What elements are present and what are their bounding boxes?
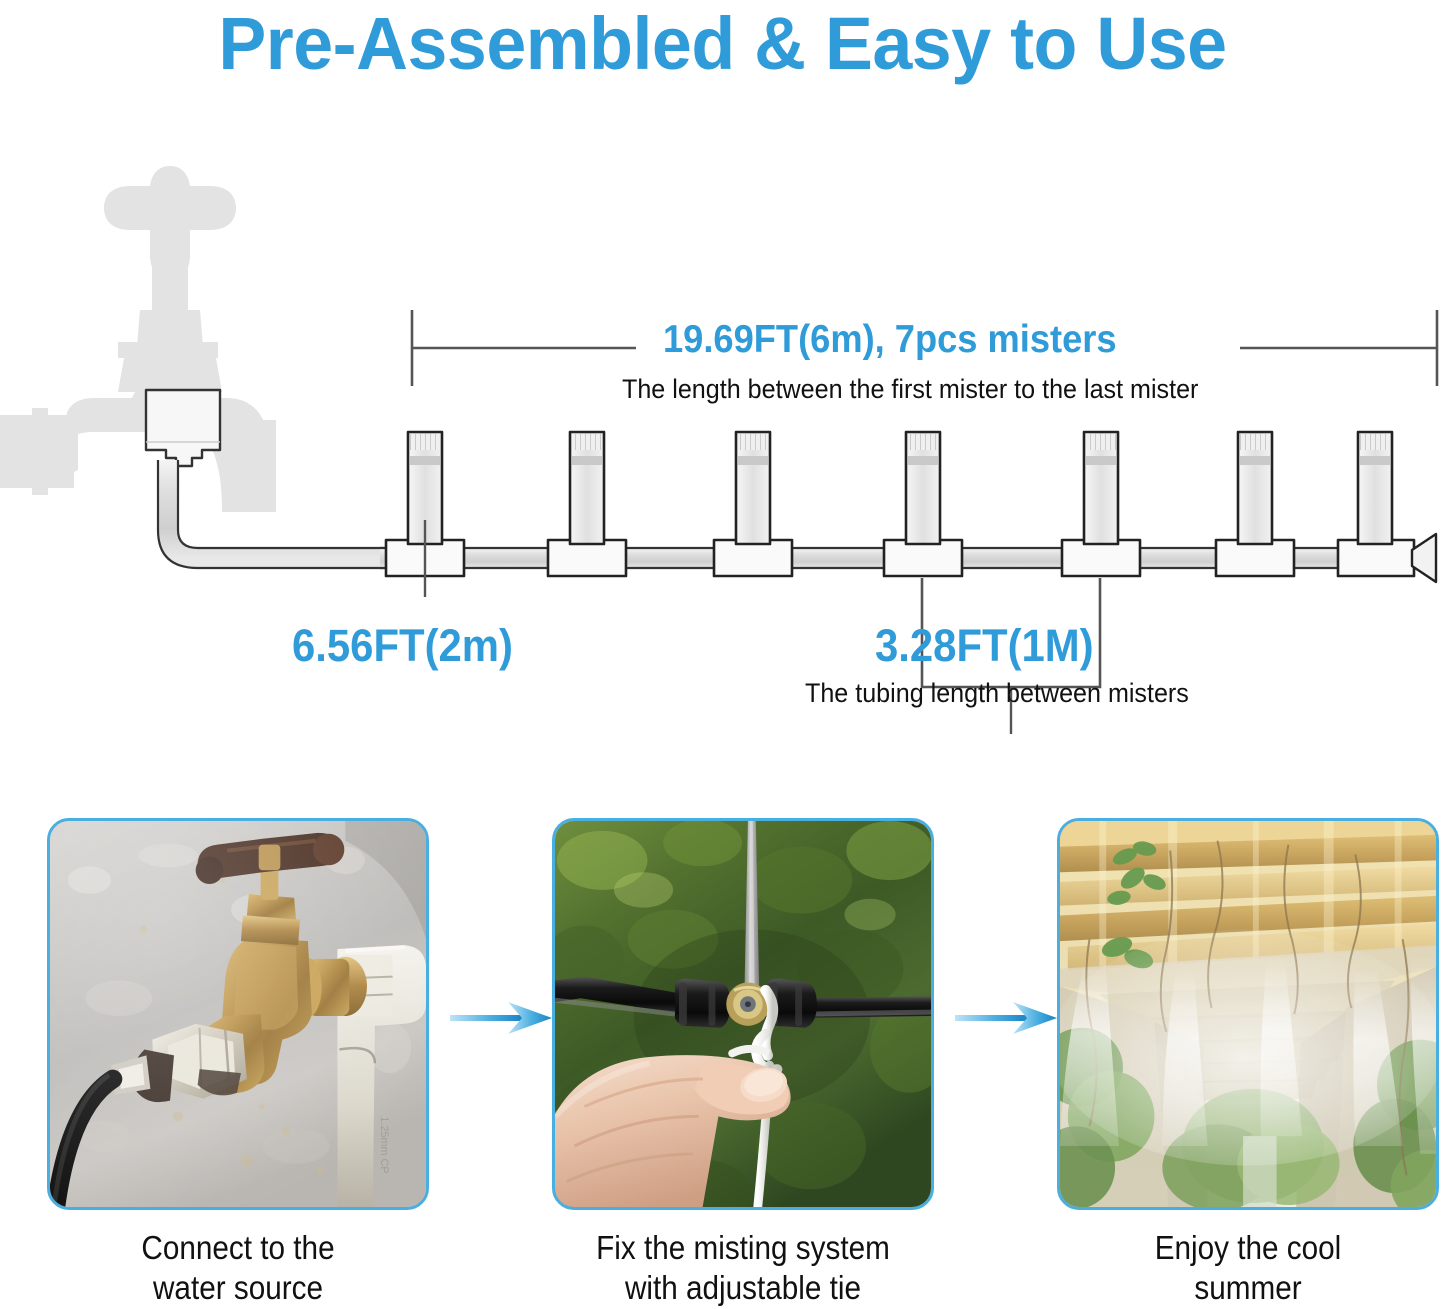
end-cap-icon (1412, 534, 1436, 582)
diagram-svg (0, 120, 1445, 740)
arrow-right-icon (955, 996, 1060, 1040)
arrow-right-icon (450, 996, 555, 1040)
supply-tube (158, 460, 404, 568)
mister-nozzle (884, 432, 962, 576)
mister-nozzle (1216, 432, 1294, 576)
caption-line: Enjoy the cool (1055, 1228, 1442, 1268)
main-dimension-value: 19.69FT(6m), 7pcs misters (663, 318, 1117, 362)
step-photo-enjoy-cool-summer (1057, 818, 1439, 1210)
step-caption-1: Connect to the water source (45, 1228, 432, 1308)
caption-line: Fix the misting system (550, 1228, 937, 1268)
steps-photo-row: 1.25mm CP (0, 818, 1445, 1218)
main-dimension-description: The length between the first mister to t… (622, 374, 1198, 405)
lead-dimension-value: 6.56FT(2m) (292, 620, 513, 672)
zip-tie-photo-illustration (555, 821, 931, 1207)
caption-line: with adjustable tie (550, 1268, 937, 1308)
step-caption-2: Fix the misting system with adjustable t… (550, 1228, 937, 1308)
caption-line: summer (1055, 1268, 1442, 1308)
misting-system-diagram: 19.69FT(6m), 7pcs misters The length bet… (0, 120, 1445, 740)
mister-nozzle (548, 432, 626, 576)
step-photo-fix-with-tie (552, 818, 934, 1210)
spacing-dimension-value: 3.28FT(1M) (875, 620, 1094, 672)
page-title: Pre-Assembled & Easy to Use (22, 2, 1424, 86)
hose-adapter-icon (146, 390, 220, 466)
mister-nozzle (1338, 432, 1414, 576)
pergola-mist-photo-illustration (1060, 821, 1436, 1207)
mister-nozzle (714, 432, 792, 576)
step-caption-3: Enjoy the cool summer (1055, 1228, 1442, 1308)
caption-line: Connect to the (45, 1228, 432, 1268)
mister-nozzle (1062, 432, 1140, 576)
spacing-dimension-description: The tubing length between misters (805, 678, 1189, 709)
caption-line: water source (45, 1268, 432, 1308)
step-captions: Connect to the water source Fix the mist… (0, 1228, 1445, 1309)
step-photo-connect-water-source: 1.25mm CP (47, 818, 429, 1210)
faucet-icon (0, 166, 276, 512)
faucet-photo-illustration: 1.25mm CP (50, 821, 426, 1207)
